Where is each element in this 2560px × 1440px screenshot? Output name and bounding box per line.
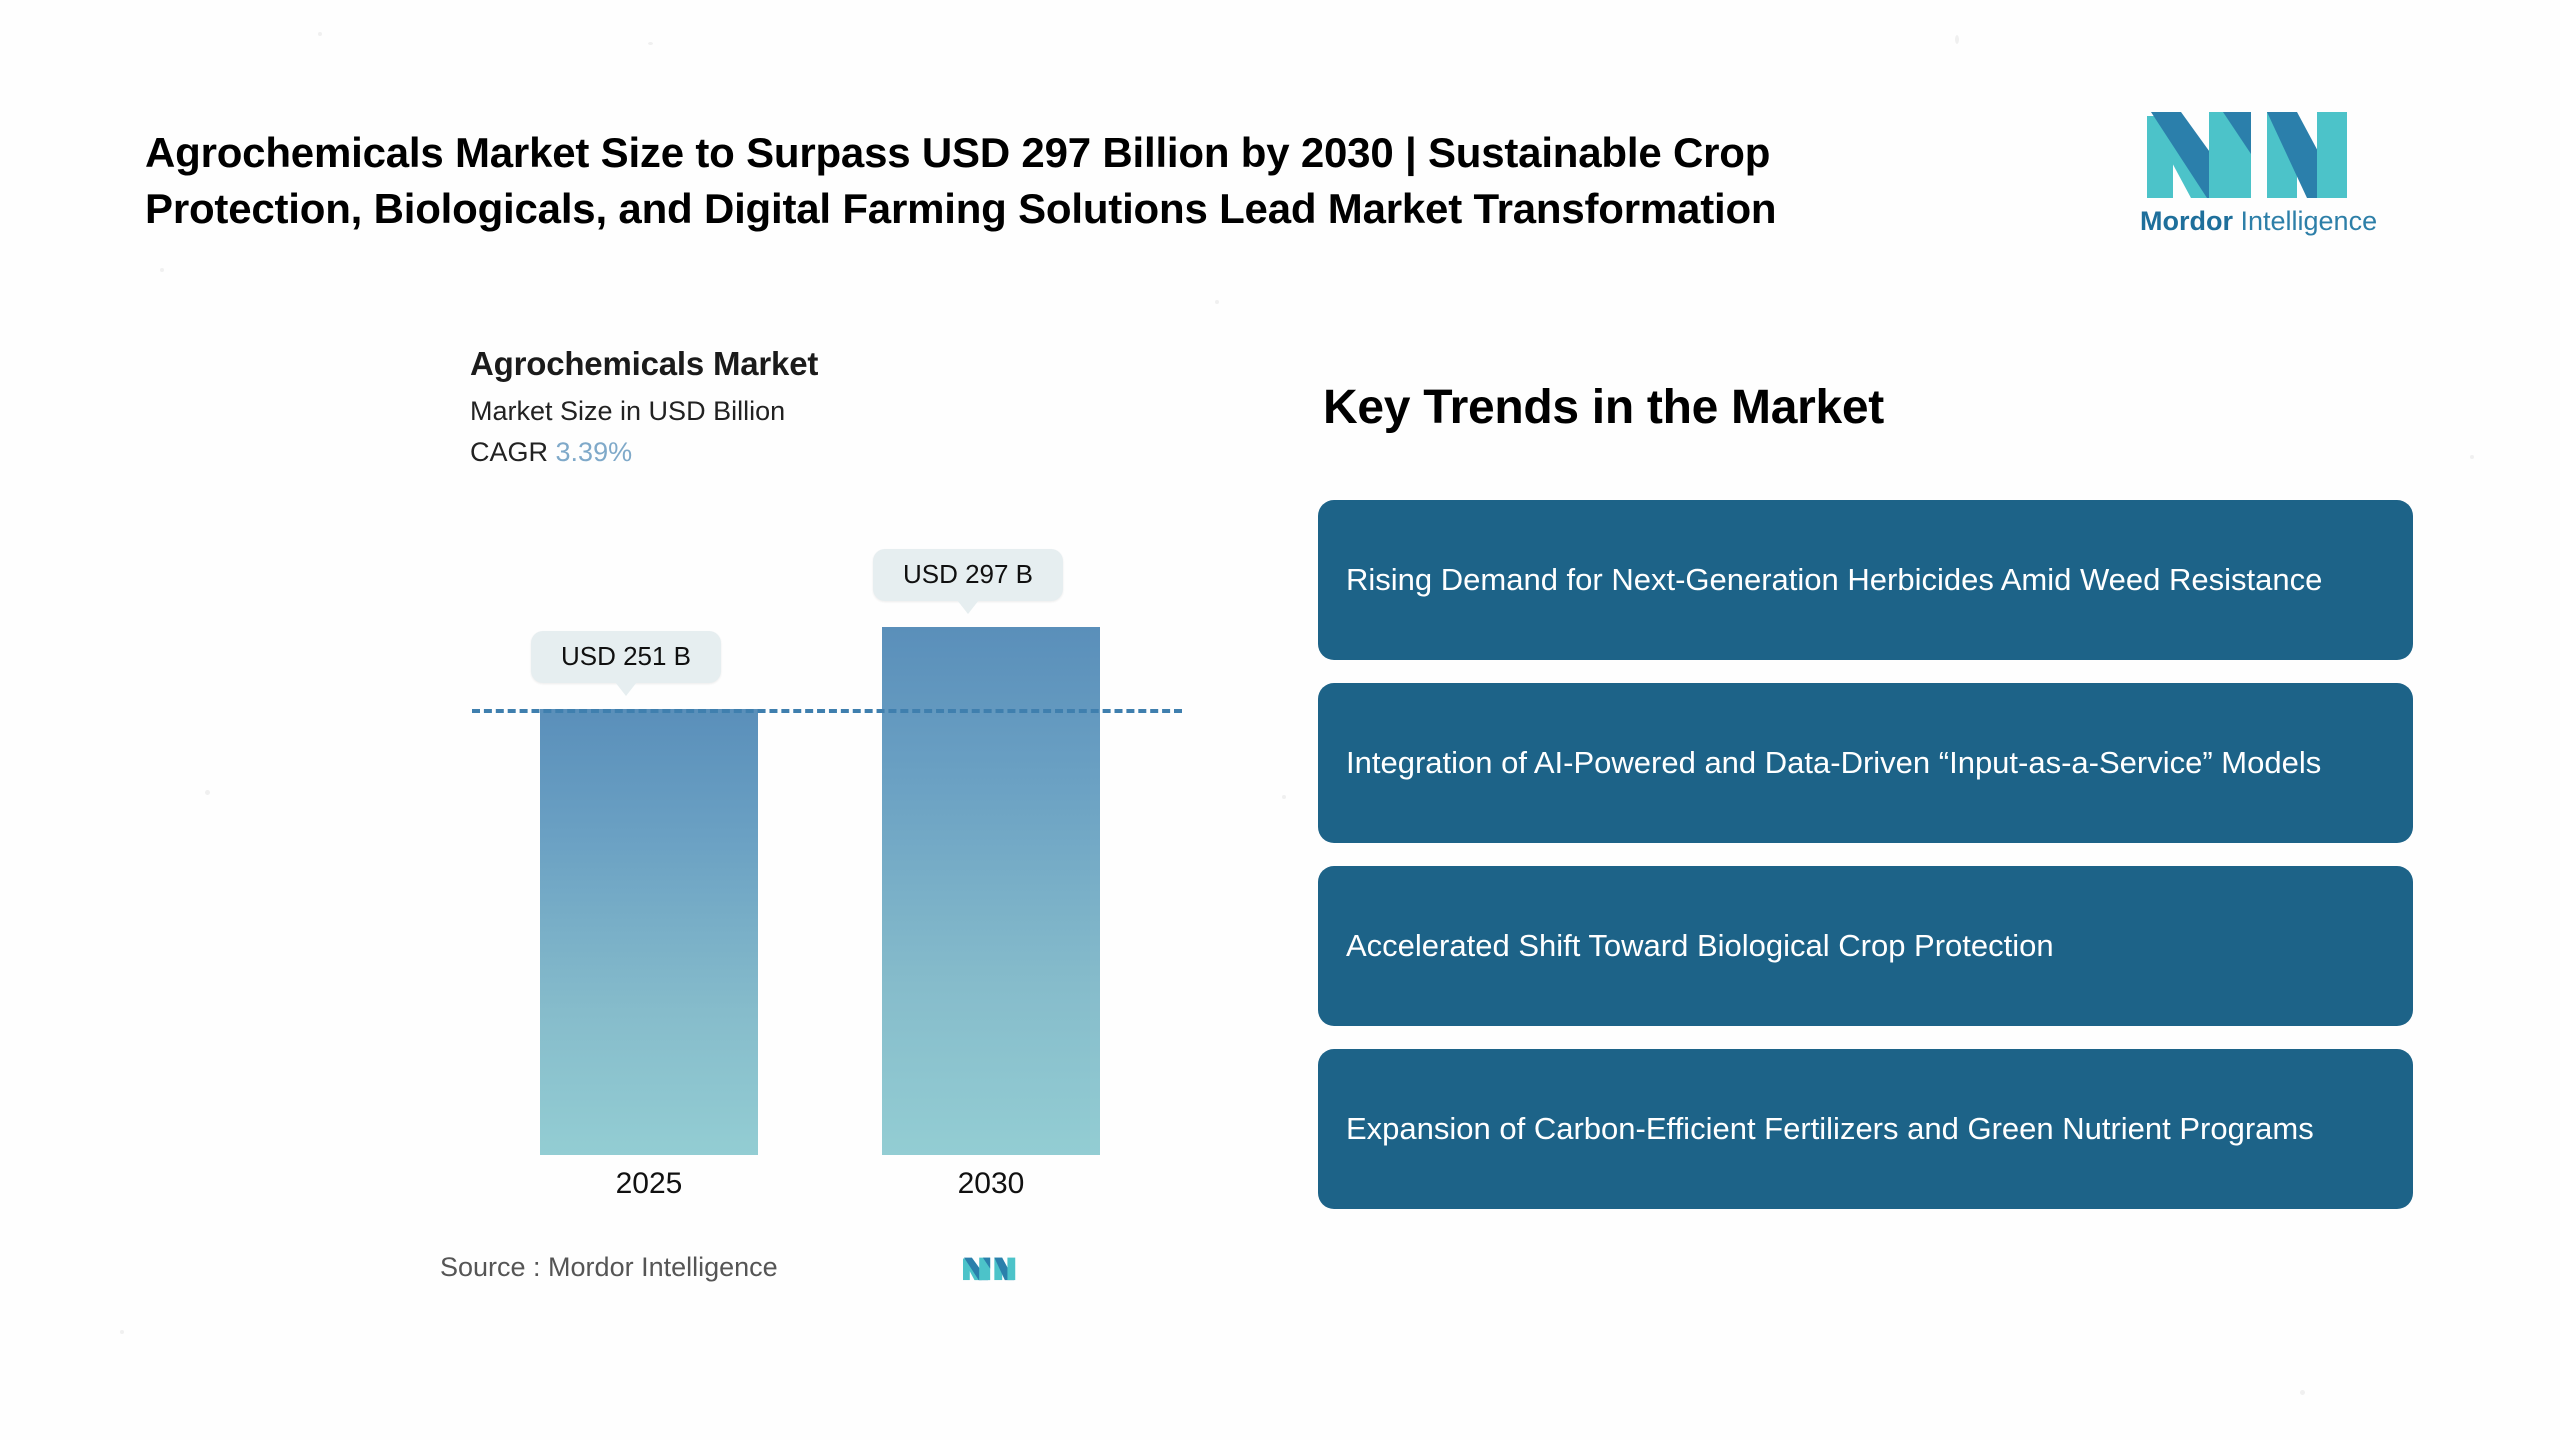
trend-card-2[interactable]: Integration of AI-Powered and Data-Drive… (1318, 683, 2413, 843)
page-title-line2: Protection, Biologicals, and Digital Far… (145, 181, 1776, 237)
trend-card-4[interactable]: Expansion of Carbon-Efficient Fertilizer… (1318, 1049, 2413, 1209)
x-tick-2025: 2025 (540, 1167, 758, 1201)
page-header: Agrochemicals Market Size to Surpass USD… (145, 125, 2135, 238)
cagr-value: 3.39% (556, 437, 633, 467)
page-title: Agrochemicals Market Size to Surpass USD… (145, 125, 1776, 238)
bar-2025 (540, 709, 758, 1155)
value-label-2030: USD 297 B (873, 549, 1063, 601)
mordor-wordmark: Mordor Intelligence (2140, 208, 2375, 235)
background-speckle (160, 268, 164, 272)
chart-cagr: CAGR 3.39% (470, 437, 1230, 468)
cagr-label: CAGR (470, 437, 548, 467)
mordor-m-icon (2147, 98, 2369, 198)
mordor-intelligence-logo: Mordor Intelligence (2140, 98, 2375, 235)
trend-card-1[interactable]: Rising Demand for Next-Generation Herbic… (1318, 500, 2413, 660)
brand-name-bold: Mordor (2140, 206, 2233, 236)
background-speckle (318, 32, 322, 36)
key-trends-title: Key Trends in the Market (1323, 380, 2418, 435)
x-tick-2030: 2030 (882, 1167, 1100, 1201)
background-speckle (2300, 1390, 2305, 1395)
background-speckle (1955, 35, 1959, 44)
background-speckle (1215, 300, 1219, 304)
source-mordor-m-icon (963, 1250, 1021, 1284)
market-size-chart: Agrochemicals Market Market Size in USD … (470, 345, 1230, 1295)
chart-title: Agrochemicals Market (470, 345, 1230, 383)
trend-card-3-text: Accelerated Shift Toward Biological Crop… (1346, 925, 2054, 968)
chart-subtitle: Market Size in USD Billion (470, 396, 1230, 427)
chart-source: Source : Mordor Intelligence (440, 1250, 1230, 1284)
trend-card-2-text: Integration of AI-Powered and Data-Drive… (1346, 742, 2321, 785)
background-speckle (120, 1330, 124, 1334)
background-speckle (1282, 795, 1286, 799)
trend-card-1-text: Rising Demand for Next-Generation Herbic… (1346, 559, 2322, 602)
chart-plot-area: USD 251 B USD 297 B 2025 2030 (470, 515, 1230, 1155)
background-speckle (648, 42, 653, 45)
background-speckle (205, 790, 210, 795)
bar-2030 (882, 627, 1100, 1155)
trend-card-4-text: Expansion of Carbon-Efficient Fertilizer… (1346, 1108, 2314, 1151)
key-trends-panel: Key Trends in the Market Rising Demand f… (1318, 380, 2418, 1232)
source-text: Source : Mordor Intelligence (440, 1252, 778, 1283)
trend-card-3[interactable]: Accelerated Shift Toward Biological Crop… (1318, 866, 2413, 1026)
reference-line-dashed (472, 709, 1182, 713)
infographic-canvas: Agrochemicals Market Size to Surpass USD… (0, 0, 2560, 1440)
background-speckle (2470, 455, 2474, 459)
value-label-2025: USD 251 B (531, 631, 721, 683)
page-title-line1: Agrochemicals Market Size to Surpass USD… (145, 129, 1770, 176)
brand-name-light: Intelligence (2233, 206, 2377, 236)
